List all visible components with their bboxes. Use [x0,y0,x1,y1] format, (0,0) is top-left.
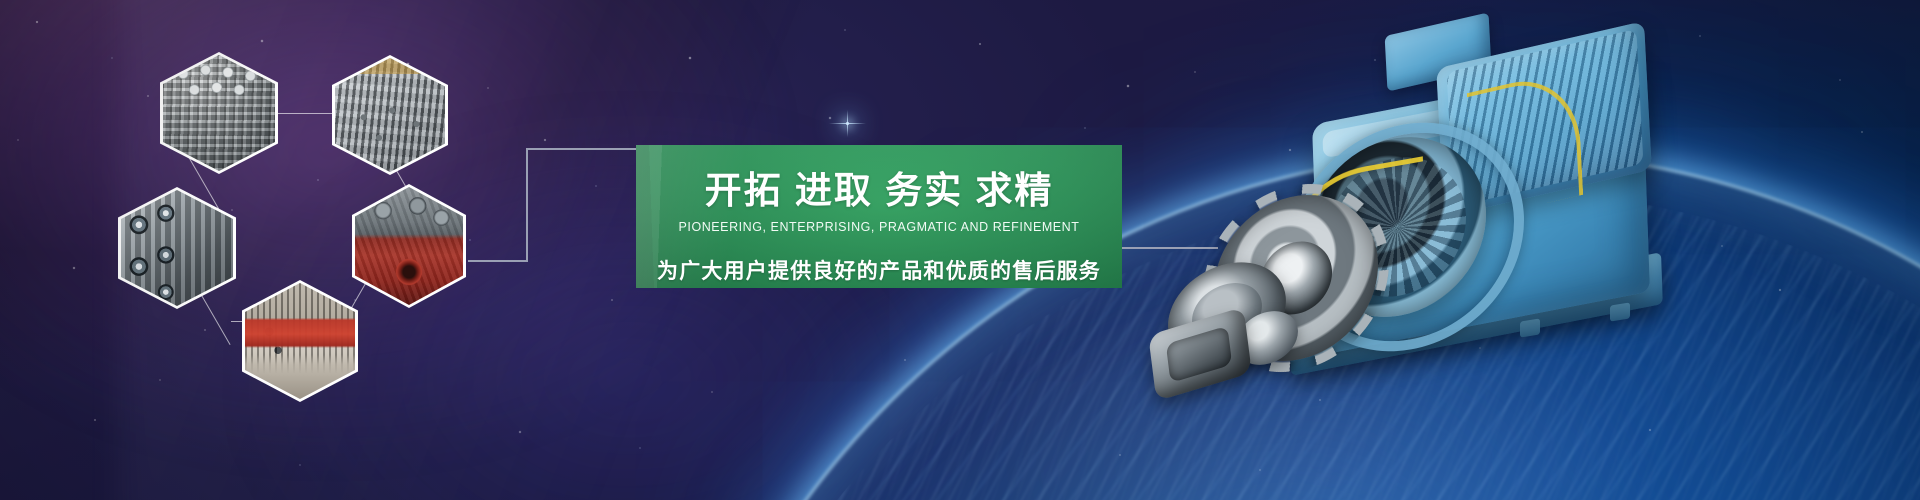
gearbox-foot [1520,318,1540,337]
bracket-top-horizontal [526,148,638,150]
part-sleeve [1148,307,1252,402]
hexagon-photo-red-motor[interactable] [242,280,358,402]
hexagon-photo-cluster [0,0,560,500]
bracket-vertical [526,148,528,262]
bright-star-icon [846,122,849,125]
hexagon-photo-cylinders[interactable] [160,52,278,174]
banner-stage: 开拓 进取 务实 求精 PIONEERING, ENTERPRISING, PR… [0,0,1920,500]
banner-headline: 开拓 进取 务实 求精 [636,171,1122,211]
hexagon-photo-red-housing[interactable] [352,184,466,308]
hexagon-photo-plates[interactable] [332,55,448,175]
bracket-bottom-horizontal [468,260,528,262]
gearbox-foot [1610,302,1630,321]
banner-tagline: 为广大用户提供良好的产品和优质的售后服务 [636,255,1122,285]
product-gearbox[interactable] [1140,20,1920,420]
banner-subtitle: PIONEERING, ENTERPRISING, PRAGMATIC AND … [636,220,1122,234]
hexagon-photo-rollers[interactable] [118,187,236,309]
slogan-banner: 开拓 进取 务实 求精 PIONEERING, ENTERPRISING, PR… [636,145,1122,288]
